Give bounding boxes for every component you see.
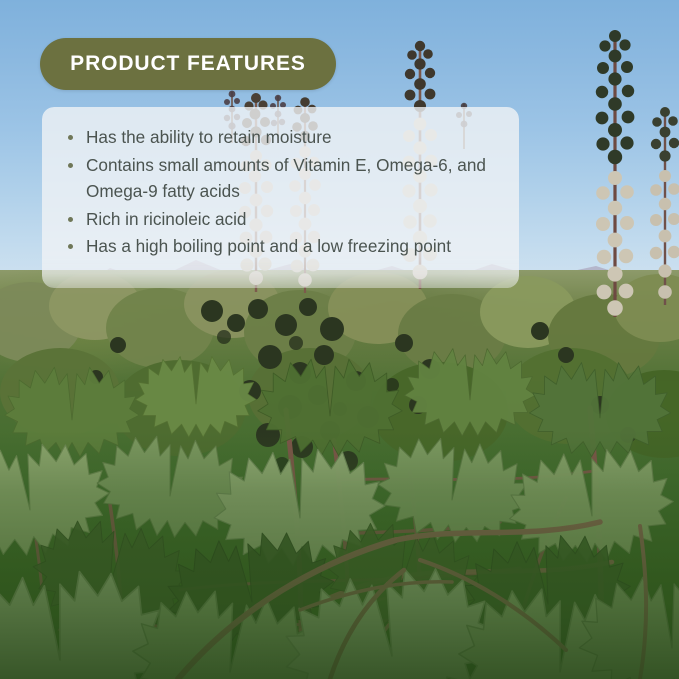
list-item: Contains small amounts of Vitamin E, Ome… xyxy=(63,152,499,205)
list-item: Rich in ricinoleic acid xyxy=(63,206,499,233)
product-features-panel: Has the ability to retain moisture Conta… xyxy=(42,107,519,288)
page-title: PRODUCT FEATURES xyxy=(70,52,306,76)
list-item: Has a high boiling point and a low freez… xyxy=(63,233,499,260)
product-feature-image: Has the ability to retain moisture Conta… xyxy=(0,0,679,679)
castor-flower-spike-right-2 xyxy=(648,96,679,306)
field-shadow-gradient xyxy=(0,430,679,679)
product-features-badge: PRODUCT FEATURES xyxy=(40,38,336,90)
list-item: Has the ability to retain moisture xyxy=(63,124,499,151)
product-features-list: Has the ability to retain moisture Conta… xyxy=(42,107,519,260)
castor-flower-spike-right-tall xyxy=(588,18,642,318)
